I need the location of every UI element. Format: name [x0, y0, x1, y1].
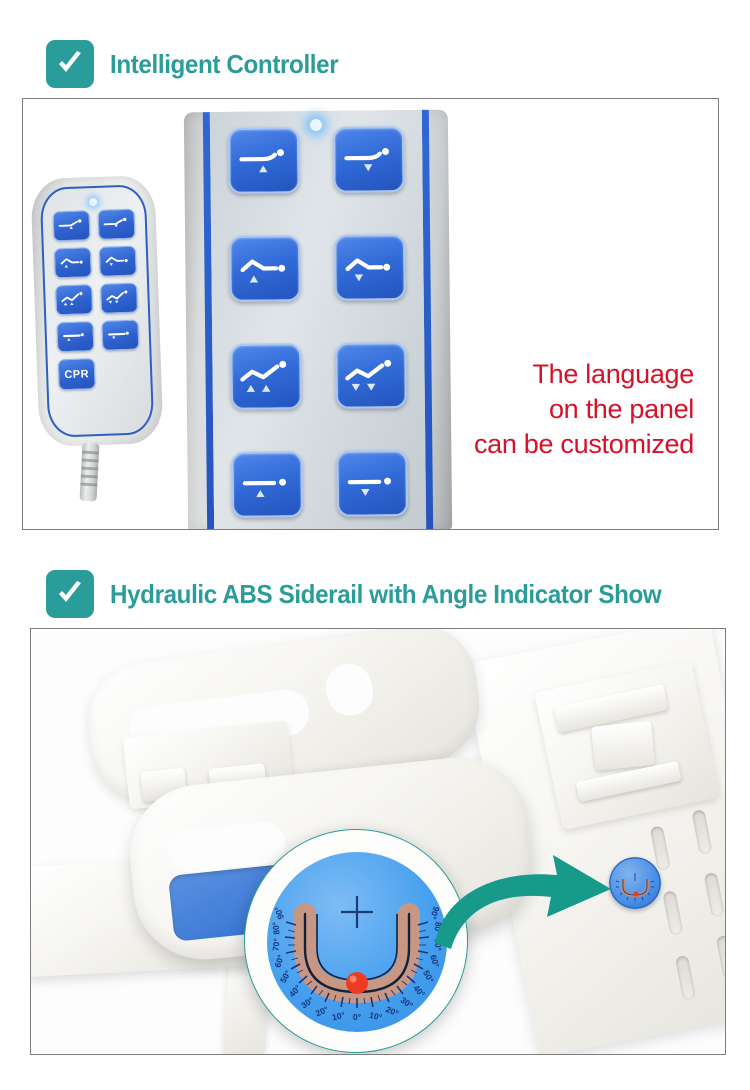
- remote-button-cpr[interactable]: CPR: [58, 358, 96, 390]
- section-heading-intelligent-controller: Intelligent Controller: [46, 40, 355, 88]
- product-feature-page: Intelligent Controller: [0, 0, 750, 1090]
- svg-text:50°: 50°: [421, 968, 436, 985]
- svg-text:30°: 30°: [299, 994, 316, 1010]
- remote-button-chair-up[interactable]: [55, 284, 93, 315]
- svg-text:10°: 10°: [368, 1010, 383, 1023]
- panel-faceplate: [210, 110, 426, 530]
- panel-button-grid: [228, 126, 408, 518]
- power-led-icon: [310, 119, 322, 131]
- svg-text:10°: 10°: [331, 1010, 346, 1023]
- curved-arrow-icon: [429, 847, 619, 962]
- remote-button-height-down[interactable]: [101, 320, 139, 351]
- remote-button-knee-down[interactable]: [99, 246, 137, 277]
- panel-button-height-down[interactable]: [333, 126, 405, 193]
- check-icon: [46, 570, 94, 618]
- controller-photo-panel: CPR: [22, 98, 719, 530]
- svg-text:20°: 20°: [314, 1004, 330, 1019]
- panel-button-height-up[interactable]: [228, 127, 300, 194]
- check-icon: [46, 40, 94, 88]
- svg-text:90°: 90°: [272, 905, 286, 921]
- remote-button-chair-down[interactable]: [100, 283, 138, 314]
- page-title: Intelligent Controller: [110, 49, 338, 80]
- remote-button-grid: CPR: [53, 209, 141, 391]
- remote-cord: [79, 443, 99, 502]
- section-heading-hydraulic-siderail: Hydraulic ABS Siderail with Angle Indica…: [46, 570, 703, 618]
- remote-faceplate: CPR: [40, 184, 155, 438]
- remote-button-backrest-up[interactable]: [53, 210, 91, 241]
- remote-button-knee-up[interactable]: [54, 247, 92, 278]
- panel-button-backrest-up[interactable]: [231, 451, 303, 518]
- svg-text:80°: 80°: [270, 921, 281, 935]
- crosshair-icon: [341, 896, 373, 928]
- angle-scale: 0° 10° 20° 30° 40° 50° 60° 70° 80° 90° 1…: [267, 852, 447, 1032]
- annotation-line-1: The language: [474, 357, 694, 392]
- bed-control-panel[interactable]: [184, 110, 452, 530]
- svg-text:40°: 40°: [287, 982, 303, 999]
- svg-text:70°: 70°: [270, 937, 281, 951]
- siderail-back-cutout-2: [321, 659, 378, 721]
- panel-button-knee-down[interactable]: [334, 234, 406, 301]
- annotation-line-3: can be customized: [474, 427, 694, 462]
- power-led-icon: [89, 198, 97, 206]
- svg-text:20°: 20°: [384, 1004, 400, 1019]
- page-title: Hydraulic ABS Siderail with Angle Indica…: [110, 579, 661, 610]
- panel-button-knee-up[interactable]: [229, 235, 301, 302]
- hospital-bed-siderail-scene: 0° 10° 20° 30° 40° 50° 60° 70° 80° 90° 1…: [31, 629, 725, 1054]
- svg-text:40°: 40°: [411, 983, 427, 1000]
- annotation-line-2: on the panel: [474, 392, 694, 427]
- siderail-photo-panel: 0° 10° 20° 30° 40° 50° 60° 70° 80° 90° 1…: [30, 628, 726, 1055]
- handheld-remote[interactable]: CPR: [30, 175, 163, 447]
- remote-button-backrest-down[interactable]: [97, 209, 135, 240]
- panel-button-chair-up[interactable]: [230, 343, 302, 410]
- angle-pointer-ball: [346, 972, 368, 994]
- svg-text:60°: 60°: [272, 953, 286, 969]
- remote-button-height-up[interactable]: [56, 321, 94, 352]
- panel-button-backrest-down[interactable]: [336, 450, 408, 517]
- svg-text:30°: 30°: [399, 995, 416, 1011]
- language-annotation: The language on the panel can be customi…: [474, 357, 694, 462]
- angle-indicator-dial: 0° 10° 20° 30° 40° 50° 60° 70° 80° 90° 1…: [267, 852, 447, 1032]
- cpr-label: CPR: [64, 368, 89, 381]
- svg-text:50°: 50°: [278, 968, 293, 985]
- panel-button-chair-down[interactable]: [335, 342, 407, 409]
- svg-text:0°: 0°: [353, 1012, 362, 1022]
